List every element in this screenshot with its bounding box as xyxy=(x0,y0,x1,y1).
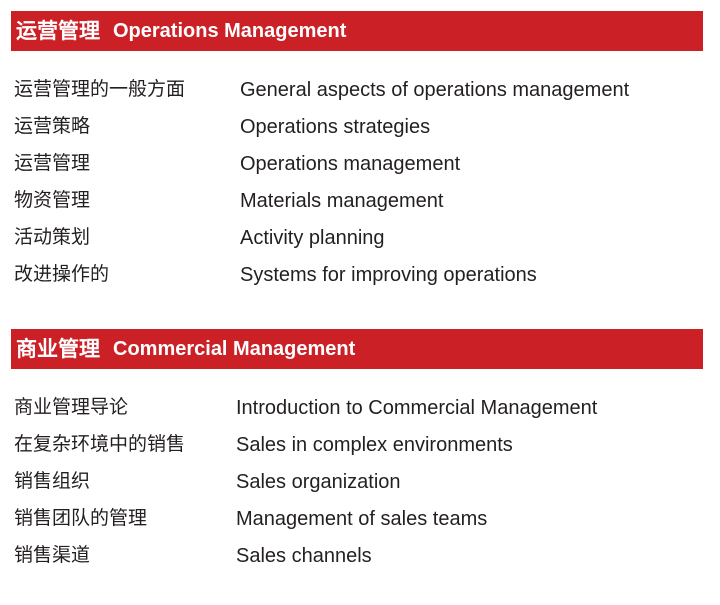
table-row: 运营管理 Operations management xyxy=(0,149,720,186)
section-header-operations-management: 运营管理 Operations Management xyxy=(11,11,703,51)
row-label-en: Operations management xyxy=(240,149,460,179)
row-label-zh: 运营管理的一般方面 xyxy=(14,75,185,105)
row-label-en: Activity planning xyxy=(240,223,385,253)
table-row: 物资管理 Materials management xyxy=(0,186,720,223)
row-label-en: Sales channels xyxy=(236,541,372,571)
row-label-en: Systems for improving operations xyxy=(240,260,537,290)
table-row: 销售渠道 Sales channels xyxy=(0,541,720,578)
row-label-zh: 销售渠道 xyxy=(14,541,90,571)
section-title-zh: 商业管理 xyxy=(16,339,100,360)
row-label-en: Management of sales teams xyxy=(236,504,487,534)
row-label-zh: 物资管理 xyxy=(14,186,90,216)
row-label-zh: 销售团队的管理 xyxy=(14,504,147,534)
row-label-en: Sales in complex environments xyxy=(236,430,513,460)
table-row: 改进操作的 Systems for improving operations xyxy=(0,260,720,297)
row-label-en: Materials management xyxy=(240,186,443,216)
row-label-en: General aspects of operations management xyxy=(240,75,629,105)
row-label-en: Operations strategies xyxy=(240,112,430,142)
table-row: 在复杂环境中的销售 Sales in complex environments xyxy=(0,430,720,467)
row-label-zh: 运营管理 xyxy=(14,149,90,179)
table-row: 运营策略 Operations strategies xyxy=(0,112,720,149)
table-row: 运营管理的一般方面 General aspects of operations … xyxy=(0,75,720,112)
section-title-en: Operations Management xyxy=(113,21,346,41)
row-label-zh: 商业管理导论 xyxy=(14,393,128,423)
row-list-operations-management: 运营管理的一般方面 General aspects of operations … xyxy=(0,75,720,297)
section-header-commercial-management: 商业管理 Commercial Management xyxy=(11,329,703,369)
row-label-zh: 活动策划 xyxy=(14,223,90,253)
table-row: 销售团队的管理 Management of sales teams xyxy=(0,504,720,541)
row-label-en: Introduction to Commercial Management xyxy=(236,393,597,423)
row-label-zh: 运营策略 xyxy=(14,112,90,142)
row-label-en: Sales organization xyxy=(236,467,401,497)
row-label-zh: 改进操作的 xyxy=(14,260,109,290)
row-label-zh: 销售组织 xyxy=(14,467,90,497)
section-title-en: Commercial Management xyxy=(113,339,355,359)
row-label-zh: 在复杂环境中的销售 xyxy=(14,430,185,460)
table-row: 活动策划 Activity planning xyxy=(0,223,720,260)
section-title-zh: 运营管理 xyxy=(16,21,100,42)
table-row: 销售组织 Sales organization xyxy=(0,467,720,504)
table-row: 商业管理导论 Introduction to Commercial Manage… xyxy=(0,393,720,430)
course-outline-page: 运营管理 Operations Management 运营管理的一般方面 Gen… xyxy=(0,0,720,605)
row-list-commercial-management: 商业管理导论 Introduction to Commercial Manage… xyxy=(0,393,720,578)
